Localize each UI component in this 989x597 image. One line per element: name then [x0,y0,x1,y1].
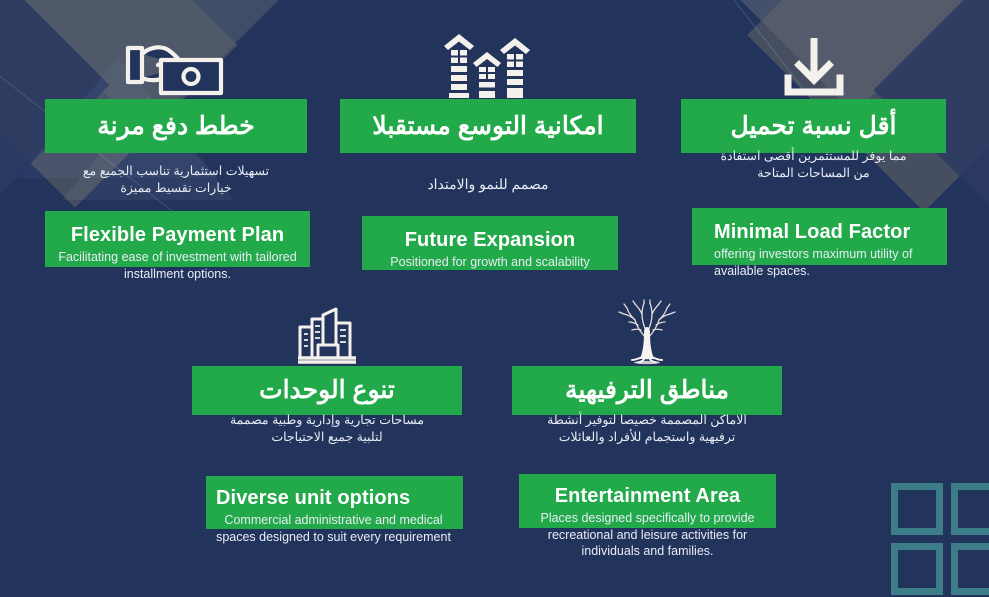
feature-title-bar-ar-3: أقل نسبة تحميل [681,99,946,153]
feature-title-bar-ar-4: تنوع الوحدات [192,366,462,415]
feature-title-en-4: Diverse unit options [216,487,451,510]
feature-desc-en-4: Commercial administrative and medical sp… [216,512,451,545]
tree-icon [512,300,782,365]
feature-en-block-5: Entertainment Area Places designed speci… [519,474,776,570]
feature-en-block-2: Future Expansion Positioned for growth a… [362,216,618,286]
feature-desc-ar-3: مما يوفر للمستثمرين أقصى استفادة من المس… [681,148,946,182]
feature-en-block-1: Flexible Payment Plan Facilitating ease … [45,211,310,291]
feature-desc-ar-1: تسهيلات استثمارية تناسب الجميع مع خيارات… [45,163,307,197]
features-layout: خطط دفع مرنة تسهيلات استثمارية تناسب الج… [0,0,989,597]
city-buildings-icon [192,303,462,365]
feature-title-en-3: Minimal Load Factor [714,221,935,244]
feature-title-ar-5: مناطق الترفيهية [565,378,729,403]
feature-title-bar-ar-2: امكانية التوسع مستقبلا [340,99,636,153]
feature-desc-ar-2: مصمم للنمو والامتداد [340,175,636,194]
feature-title-ar-2: امكانية التوسع مستقبلا [372,114,603,139]
feature-en-block-4: Diverse unit options Commercial administ… [206,476,463,556]
feature-en-block-3: Minimal Load Factor offering investors m… [692,208,947,288]
feature-desc-en-3: offering investors maximum utility of av… [714,246,935,279]
feature-title-bar-ar-5: مناطق الترفيهية [512,366,782,415]
feature-desc-en-5: Places designed specifically to provide … [531,510,764,560]
hand-holding-money-icon [45,26,305,98]
feature-title-ar-3: أقل نسبة تحميل [731,114,897,139]
feature-title-en-5: Entertainment Area [531,485,764,508]
feature-title-bar-ar-1: خطط دفع مرنة [45,99,307,153]
download-arrow-tray-icon [681,30,946,98]
feature-desc-en-2: Positioned for growth and scalability [374,254,606,271]
feature-desc-ar-4: مساحات تجارية وإدارية وطبية مصممة لتلبية… [192,412,462,446]
feature-desc-en-1: Facilitating ease of investment with tai… [57,249,298,282]
feature-title-ar-4: تنوع الوحدات [259,378,395,403]
feature-title-en-2: Future Expansion [374,229,606,252]
slide-canvas: خطط دفع مرنة تسهيلات استثمارية تناسب الج… [0,0,989,597]
feature-title-en-1: Flexible Payment Plan [57,224,298,247]
feature-title-ar-1: خطط دفع مرنة [97,114,255,139]
houses-growth-icon [340,26,635,98]
feature-desc-ar-5: الاماكن المصممة خصيصا لتوفير أنشطة ترفيه… [512,412,782,446]
